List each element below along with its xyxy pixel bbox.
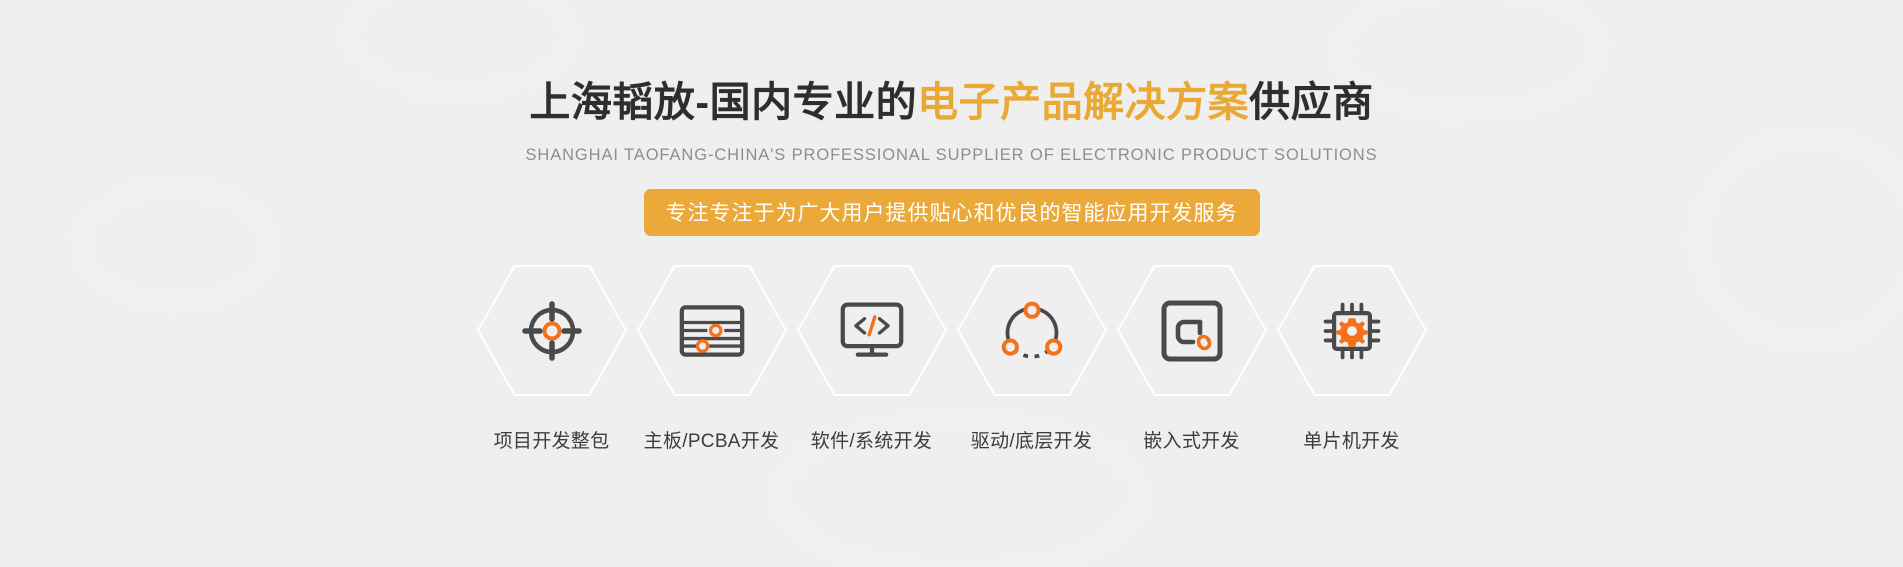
hexagon-frame: [797, 265, 947, 396]
headline-part-2: 供应商: [1249, 79, 1374, 125]
service-label: 驱动/底层开发: [971, 426, 1092, 453]
hexagon-frame: [1117, 265, 1267, 396]
hexagon-frame: [1277, 265, 1427, 396]
hero-banner: 上海韬放-国内专业的电子产品解决方案供应商 SHANGHAI TAOFANG-C…: [0, 0, 1903, 567]
service-label: 项目开发整包: [494, 426, 610, 453]
hexagon-frame: [957, 265, 1107, 396]
banner-subtitle: SHANGHAI TAOFANG-CHINA'S PROFESSIONAL SU…: [0, 146, 1903, 165]
monitor-code-icon: [839, 298, 905, 364]
banner-headline: 上海韬放-国内专业的电子产品解决方案供应商: [0, 78, 1903, 126]
service-hexagon-row: 项目开发整包: [477, 265, 1427, 453]
service-item-project-package[interactable]: 项目开发整包: [477, 265, 627, 453]
pcb-board-icon: [679, 298, 745, 364]
service-label: 嵌入式开发: [1143, 426, 1240, 453]
service-label: 软件/系统开发: [811, 426, 932, 453]
hexagon-frame: [637, 265, 787, 396]
headline-highlight: 电子产品解决方案: [917, 79, 1249, 125]
service-item-embedded[interactable]: 嵌入式开发: [1117, 265, 1267, 453]
service-label: 主板/PCBA开发: [644, 426, 780, 453]
service-item-driver-lowlevel[interactable]: 驱动/底层开发: [957, 265, 1107, 453]
service-item-software-system[interactable]: 软件/系统开发: [797, 265, 947, 453]
embedded-chip-link-icon: [1159, 298, 1225, 364]
hexagon-frame: [477, 265, 627, 396]
banner-badge-row: 专注专注于为广大用户提供贴心和优良的智能应用开发服务: [0, 189, 1903, 236]
service-item-mcu[interactable]: 单片机开发: [1277, 265, 1427, 453]
banner-slogan-badge: 专注专注于为广大用户提供贴心和优良的智能应用开发服务: [644, 189, 1260, 236]
microcontroller-gear-icon: [1319, 298, 1385, 364]
network-nodes-icon: [999, 298, 1065, 364]
service-label: 单片机开发: [1303, 426, 1400, 453]
headline-part-1: 上海韬放-国内专业的: [529, 79, 917, 125]
service-item-pcba[interactable]: 主板/PCBA开发: [637, 265, 787, 453]
crosshair-target-icon: [519, 298, 585, 364]
